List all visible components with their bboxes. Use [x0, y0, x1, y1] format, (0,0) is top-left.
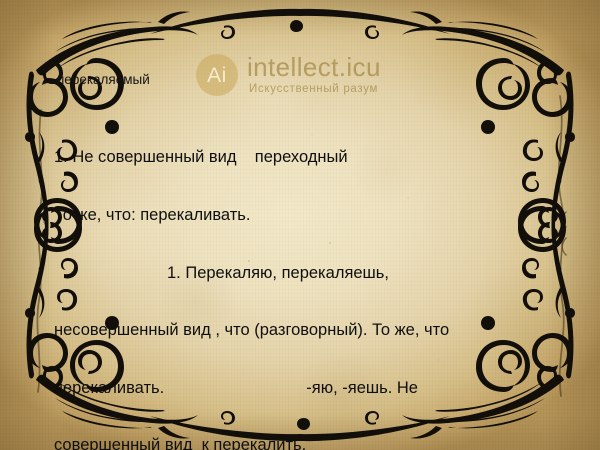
ornamental-border-frame [0, 0, 600, 450]
corner-ornament-bottom-left [25, 132, 198, 428]
corner-ornament-top-left [25, 22, 198, 318]
dictionary-entry-page: Ai intellect.icu Искусственный разум пер… [0, 0, 600, 450]
corner-ornament-top-right [402, 22, 575, 318]
edge-ornament-top [150, 9, 450, 39]
corner-ornament-bottom-right [402, 132, 575, 428]
edge-ornament-bottom [150, 411, 450, 441]
